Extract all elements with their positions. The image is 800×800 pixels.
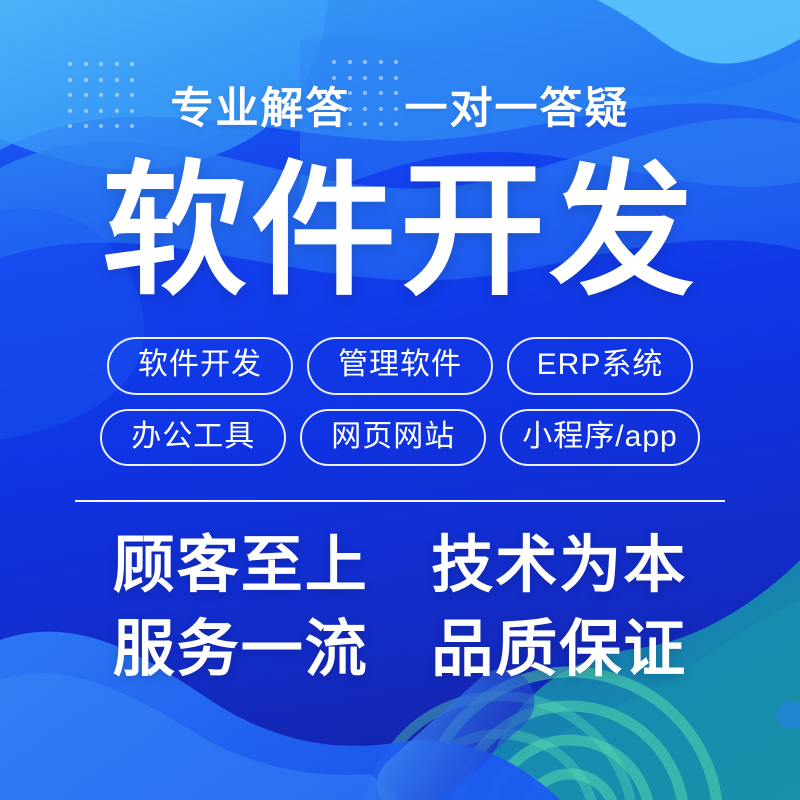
slogan-1-right: 技术为本 xyxy=(431,531,687,600)
tag-web-site[interactable]: 网页网站 xyxy=(300,409,486,467)
poster-content: 专业解答 一对一答疑 软件开发 软件开发 管理软件 ERP系统 办公工具 网页网… xyxy=(0,0,800,800)
tag-erp-system[interactable]: ERP系统 xyxy=(507,337,693,395)
tag-management-software[interactable]: 管理软件 xyxy=(307,337,493,395)
section-divider xyxy=(75,500,725,502)
slogan-2-left: 服务一流 xyxy=(113,615,369,684)
slogan-1-left: 顾客至上 xyxy=(113,531,369,600)
poster-headline: 软件开发 xyxy=(102,147,698,315)
subtitle-part-right: 一对一答疑 xyxy=(404,85,629,133)
slogan-line-2: 服务一流 品质保证 xyxy=(113,608,688,691)
tag-row-1: 软件开发 管理软件 ERP系统 xyxy=(100,337,699,395)
slogan-line-1: 顾客至上 技术为本 xyxy=(113,524,688,607)
tag-office-tools[interactable]: 办公工具 xyxy=(100,409,286,467)
tag-list: 软件开发 管理软件 ERP系统 办公工具 网页网站 小程序/app xyxy=(100,337,699,466)
promo-poster: 专业解答 一对一答疑 软件开发 软件开发 管理软件 ERP系统 办公工具 网页网… xyxy=(0,0,800,800)
slogan-2-right: 品质保证 xyxy=(431,615,687,684)
poster-subtitle: 专业解答 一对一答疑 xyxy=(171,86,630,133)
tag-software-development[interactable]: 软件开发 xyxy=(107,337,293,395)
tag-miniprogram-app[interactable]: 小程序/app xyxy=(500,409,699,467)
subtitle-part-left: 专业解答 xyxy=(171,85,351,133)
tag-row-2: 办公工具 网页网站 小程序/app xyxy=(100,409,699,467)
poster-slogan: 顾客至上 技术为本 服务一流 品质保证 xyxy=(113,524,688,690)
